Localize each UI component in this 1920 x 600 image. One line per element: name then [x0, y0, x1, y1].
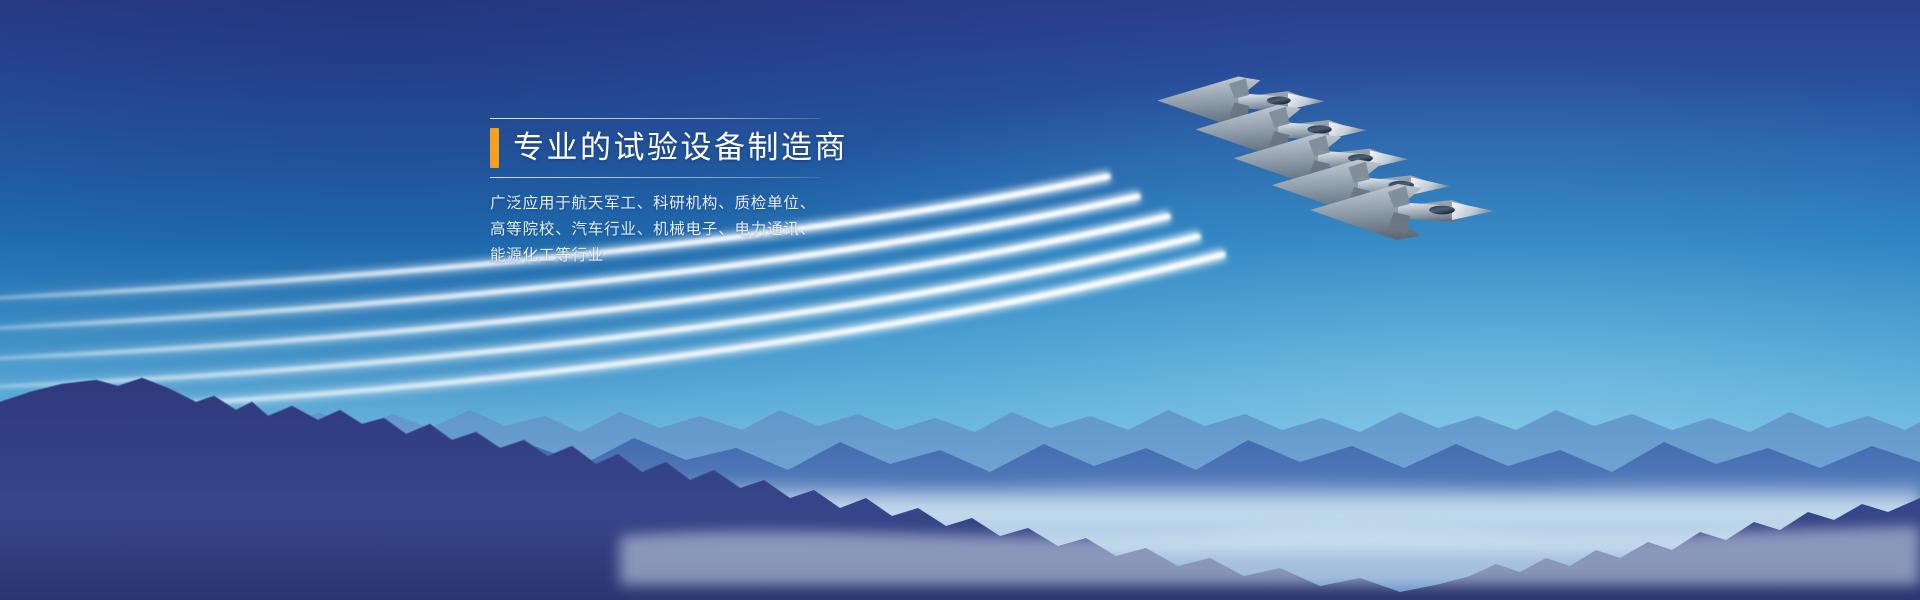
banner-copy-block: 专业的试验设备制造商 广泛应用于航天军工、科研机构、质检单位、 高等院校、汽车行…	[392, 118, 862, 269]
subtitle-line-1: 广泛应用于航天军工、科研机构、质检单位、	[490, 191, 862, 217]
accent-bar-icon	[490, 128, 499, 168]
subtitle-line-2: 高等院校、汽车行业、机械电子、电力通讯、	[490, 217, 862, 243]
fighter-jet-formation	[1120, 38, 1540, 278]
layered-mountain-range	[0, 340, 1920, 600]
headline-row: 专业的试验设备制造商	[490, 119, 862, 177]
contrail-streaks	[0, 0, 1920, 600]
page-title: 专业的试验设备制造商	[513, 128, 848, 168]
sky-glow	[0, 0, 1920, 600]
sky-vignette	[0, 0, 1920, 600]
headline-bottom-rule	[490, 177, 820, 178]
hero-banner: 专业的试验设备制造商 广泛应用于航天军工、科研机构、质检单位、 高等院校、汽车行…	[0, 0, 1920, 600]
subtitle-block: 广泛应用于航天军工、科研机构、质检单位、 高等院校、汽车行业、机械电子、电力通讯…	[490, 191, 862, 269]
subtitle-line-3: 能源化工等行业	[490, 243, 862, 269]
